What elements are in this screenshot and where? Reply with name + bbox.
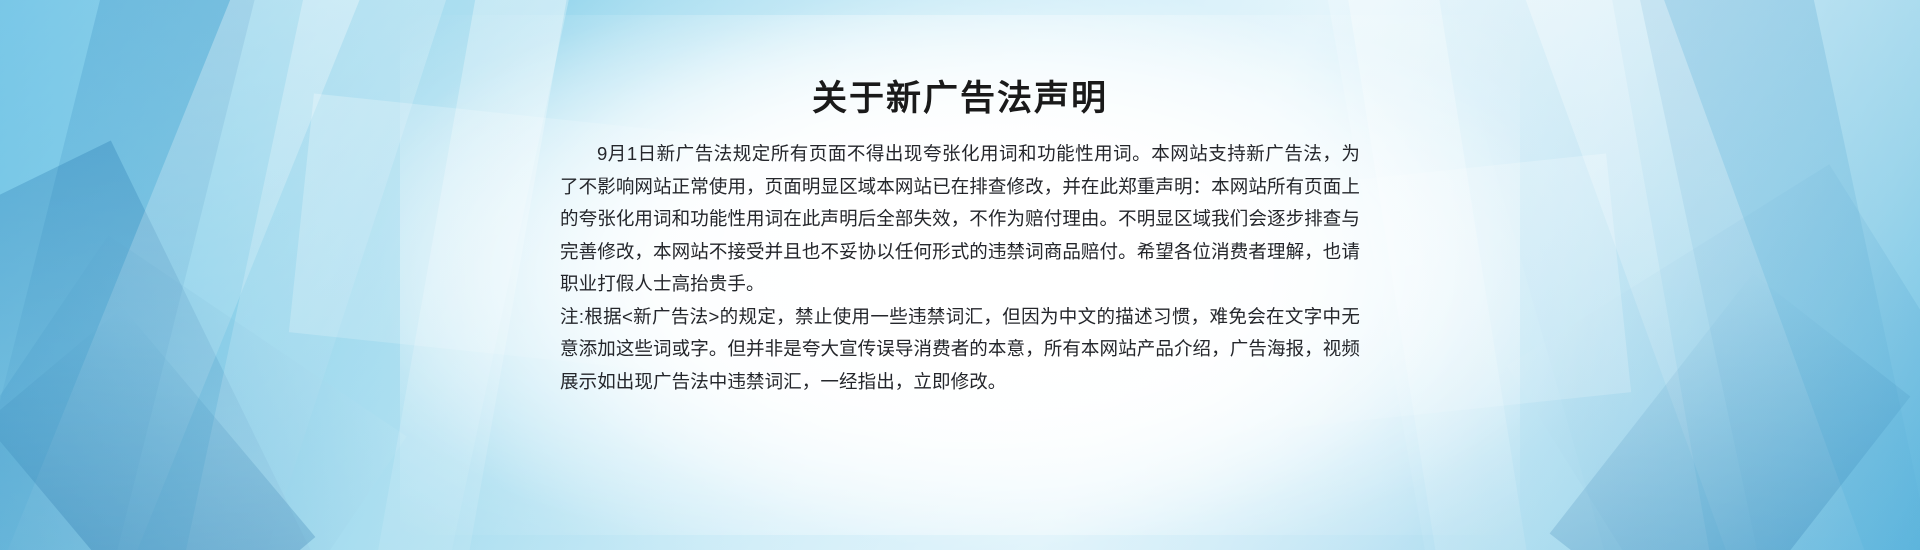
background-shard (1, 0, 419, 550)
statement-paragraph-main: 9月1日新广告法规定所有页面不得出现夸张化用词和功能性用词。本网站支持新广告法，… (560, 138, 1360, 301)
background-shard (1418, 0, 1920, 550)
background-shard (1463, 0, 1886, 550)
background-shard (0, 0, 262, 550)
background-shard (153, 0, 586, 550)
statement-paragraph-note: 注:根据<新广告法>的规定，禁止使用一些违禁词汇，但因为中文的描述习惯，难免会在… (560, 301, 1360, 399)
page-title: 关于新广告法声明 (560, 78, 1360, 120)
background-shard (0, 0, 468, 550)
background-shard (1550, 273, 1911, 550)
advertising-law-statement-banner: 关于新广告法声明 9月1日新广告法规定所有页面不得出现夸张化用词和功能性用词。本… (0, 0, 1920, 550)
background-shard (0, 235, 407, 550)
background-shard (1316, 0, 1745, 550)
background-shard (1629, 0, 1920, 550)
background-shard (1507, 164, 1920, 550)
background-shard (0, 141, 339, 550)
background-shard (0, 307, 315, 550)
statement-content: 关于新广告法声明 9月1日新广告法规定所有页面不得出现夸张化用词和功能性用词。本… (560, 0, 1360, 398)
